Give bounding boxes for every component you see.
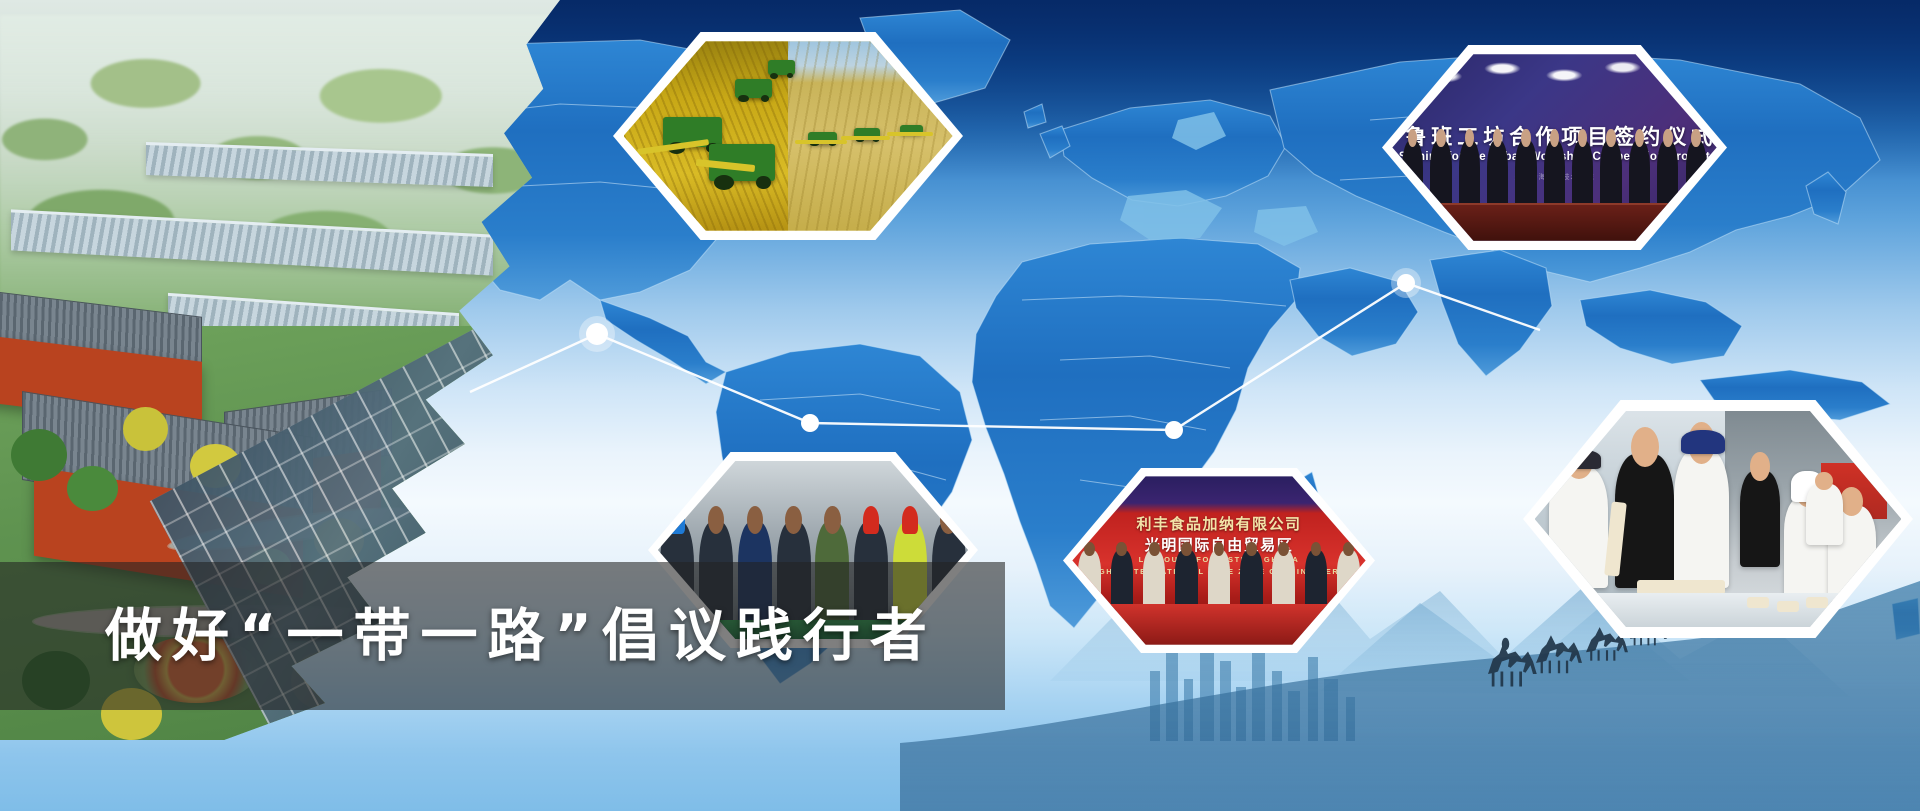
hexagon-luban-workshop-signing[interactable]: 鲁班工坊合作项目签约仪式 Signing for the Luban Works… [1382,45,1727,250]
hexagon-ghana-free-zone-ceremony[interactable]: 利丰食品加纳有限公司 光明国际自由贸易区 LEEFOUND FOOD STUFF… [1063,468,1375,653]
page-title: 做好“一带一路”倡议践行者 [105,608,937,665]
ghana-attendees [1078,544,1360,611]
hexagon-agriculture-harvest[interactable] [613,32,963,240]
ghana-line-cn-1: 利丰食品加纳有限公司 [1087,513,1351,534]
title-banner: 做好“一带一路”倡议践行者 [0,562,1005,710]
luban-attendees [1402,131,1707,209]
hexagon-culinary-training[interactable] [1523,400,1913,638]
banner-hero: 鲁班工坊合作项目签约仪式 Signing for the Luban Works… [0,0,1920,811]
